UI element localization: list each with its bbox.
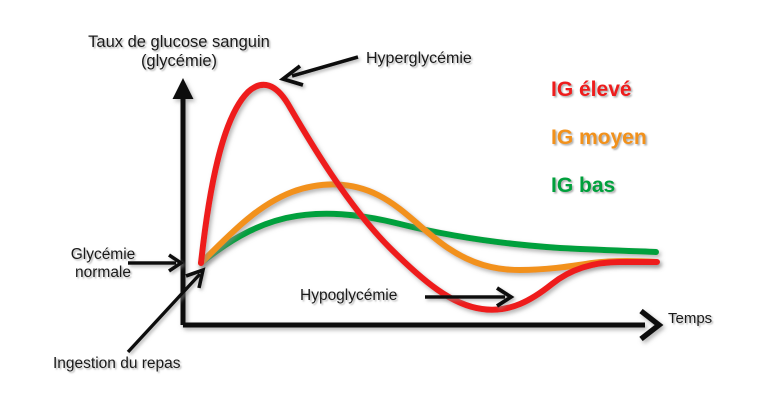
- y-axis: [173, 78, 194, 325]
- glycemic-index-chart: Taux de glucose sanguin(glycémie) Temps …: [0, 0, 775, 408]
- normal-glycemia-label-line1: Glycémie: [71, 246, 136, 263]
- hypoglycemia-label: Hypoglycémie: [300, 287, 397, 305]
- legend-item-ig-moyen: IG moyen: [551, 126, 647, 150]
- hyperglycemia-label: Hyperglycémie: [366, 50, 472, 68]
- legend-item-ig-bas: IG bas: [551, 174, 615, 198]
- y-axis-label-line2: (glycémie): [141, 52, 217, 70]
- y-axis-label-line1: Taux de glucose sanguin: [88, 33, 270, 51]
- meal-intake-label: Ingestion du repas: [53, 355, 181, 373]
- curve-ig-bas: [201, 214, 656, 263]
- y-axis-label: Taux de glucose sanguin(glycémie): [66, 33, 292, 71]
- normal-glycemia-label: Glycémienormale: [44, 246, 162, 282]
- normal-glycemia-label-line2: normale: [75, 264, 131, 281]
- x-axis-label: Temps: [668, 310, 712, 327]
- legend-item-ig-eleve: IG élevé: [551, 78, 632, 102]
- meal-intake-arrow: [128, 270, 203, 352]
- hyperglycemia-arrow: [283, 57, 358, 85]
- x-axis: [183, 311, 659, 339]
